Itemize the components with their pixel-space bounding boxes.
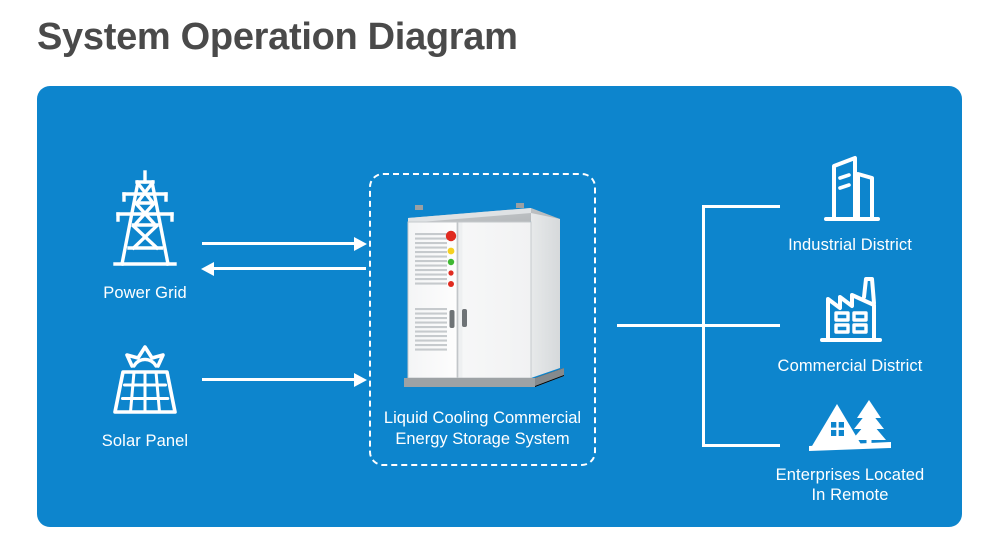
node-power-grid-label: Power Grid bbox=[70, 283, 220, 303]
arrow-shaft bbox=[202, 242, 355, 245]
node-power-grid[interactable]: Power Grid bbox=[70, 168, 220, 303]
node-solar-panel-label: Solar Panel bbox=[70, 431, 220, 451]
ess-caption-line2: Energy Storage System bbox=[369, 429, 596, 450]
status-light-red-large bbox=[446, 231, 456, 241]
office-buildings-icon bbox=[735, 150, 965, 231]
status-light-green bbox=[448, 259, 454, 265]
diagram-stage: System Operation Diagram bbox=[0, 0, 999, 549]
door-handle-right bbox=[462, 309, 467, 327]
node-industrial-district[interactable]: Industrial District bbox=[735, 150, 965, 255]
page-title: System Operation Diagram bbox=[37, 16, 518, 59]
ess-caption-line1: Liquid Cooling Commercial bbox=[369, 408, 596, 429]
node-remote-enterprises[interactable]: Enterprises Located In Remote bbox=[725, 396, 975, 505]
node-solar-panel[interactable]: Solar Panel bbox=[70, 340, 220, 451]
node-commercial-district[interactable]: Commercial District bbox=[735, 275, 965, 376]
house-and-tree-icon bbox=[725, 396, 975, 463]
status-light-yellow bbox=[448, 248, 455, 255]
status-light-red-small-2 bbox=[448, 281, 454, 287]
door-handle-left bbox=[450, 310, 455, 328]
connector-stem bbox=[617, 324, 705, 327]
node-commercial-district-label: Commercial District bbox=[735, 356, 965, 376]
node-industrial-district-label: Industrial District bbox=[735, 235, 965, 255]
node-remote-enterprises-label-line2: In Remote bbox=[725, 485, 975, 505]
arrow-head-right bbox=[354, 237, 367, 251]
factory-icon bbox=[735, 275, 965, 352]
node-remote-enterprises-label: Enterprises Located In Remote bbox=[725, 465, 975, 505]
node-remote-enterprises-label-line1: Enterprises Located bbox=[725, 465, 975, 485]
status-light-red-small-1 bbox=[448, 270, 453, 275]
ess-caption: Liquid Cooling Commercial Energy Storage… bbox=[369, 408, 596, 450]
energy-storage-cabinet-icon bbox=[398, 198, 568, 398]
arrow-shaft bbox=[213, 267, 366, 270]
solar-panel-icon bbox=[70, 340, 220, 423]
arrow-head-left bbox=[201, 262, 214, 276]
transmission-tower-icon bbox=[70, 168, 220, 277]
arrow-shaft bbox=[202, 378, 355, 381]
arrow-head-right bbox=[354, 373, 367, 387]
